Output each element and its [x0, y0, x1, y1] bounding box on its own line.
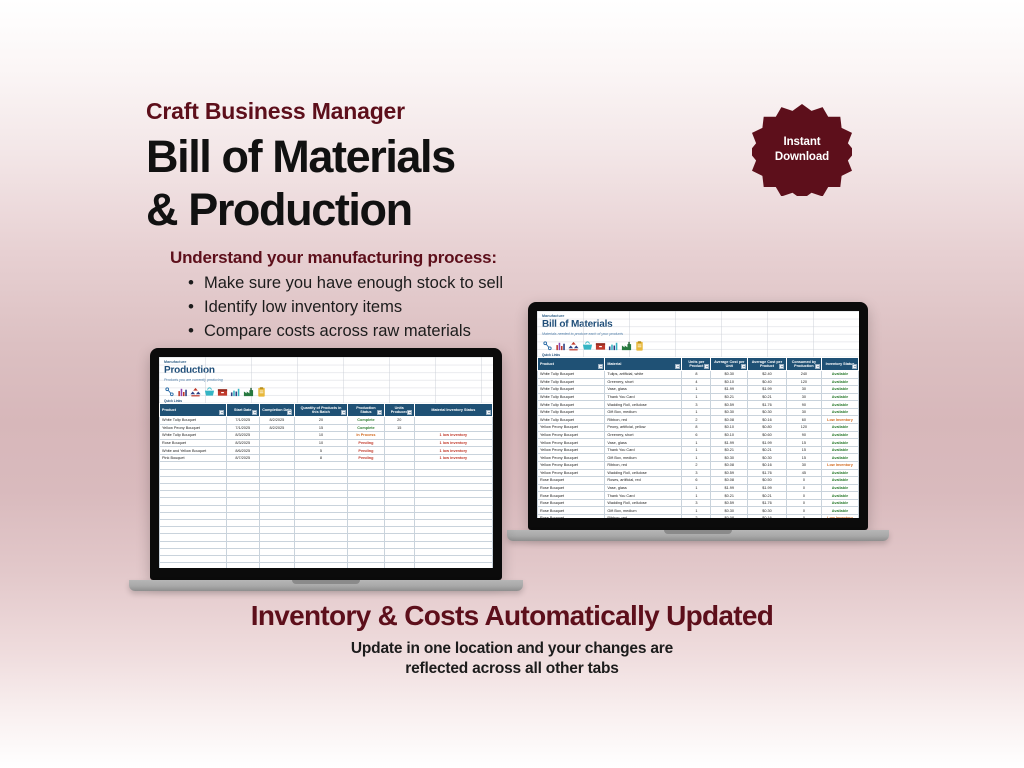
- column-header-avg-cost-unit[interactable]: Average Cost per Unit: [711, 357, 748, 371]
- filter-dropdown-icon[interactable]: [341, 410, 346, 415]
- cell-empty[interactable]: [259, 548, 294, 555]
- cell-quantity-in-batch[interactable]: 5: [294, 447, 347, 455]
- table-row[interactable]: White Tulip BouquetTulips, artificial, w…: [538, 371, 859, 379]
- cell-empty[interactable]: [294, 469, 347, 476]
- cell-consumed-by-production[interactable]: 0: [786, 477, 821, 485]
- cell-consumed-by-production[interactable]: 0: [786, 492, 821, 500]
- cell-empty[interactable]: [160, 498, 227, 505]
- cell-empty[interactable]: [384, 498, 414, 505]
- cell-product[interactable]: Rose Bouquet: [160, 439, 227, 447]
- cell-units-produced[interactable]: [384, 454, 414, 462]
- cell-units-per-product[interactable]: 1: [682, 454, 711, 462]
- cell-product[interactable]: Rose Bouquet: [538, 492, 605, 500]
- cell-inventory-status[interactable]: Available: [822, 446, 859, 454]
- filter-dropdown-icon[interactable]: [675, 364, 680, 369]
- quick-links-row[interactable]: [164, 385, 493, 398]
- cell-inventory-status[interactable]: Available: [822, 401, 859, 409]
- cell-empty[interactable]: [226, 491, 259, 498]
- table-row[interactable]: White Tulip BouquetRibbon, red2$0.08$0.1…: [538, 416, 859, 424]
- table-row[interactable]: Rose Bouquet8/3/202510Pending1 low inven…: [160, 439, 493, 447]
- cell-empty[interactable]: [294, 462, 347, 469]
- cell-inventory-status[interactable]: Available: [822, 424, 859, 432]
- cell-empty[interactable]: [384, 527, 414, 534]
- cell-inventory-status[interactable]: Available: [822, 492, 859, 500]
- cell-inventory-status[interactable]: Available: [822, 393, 859, 401]
- cell-material[interactable]: Peony, artificial, yellow: [605, 424, 682, 432]
- cell-avg-cost-unit[interactable]: $0.10: [711, 424, 748, 432]
- table-row[interactable]: White Tulip BouquetWadding Roll, cellulo…: [538, 401, 859, 409]
- cell-units-produced[interactable]: [384, 447, 414, 455]
- column-header-quantity-in-batch[interactable]: Quantity of Products in this Batch: [294, 403, 347, 417]
- table-row[interactable]: Yellow Peony Bouquet7/1/20258/2/202515Co…: [160, 424, 493, 432]
- cell-empty[interactable]: [259, 563, 294, 568]
- cell-empty[interactable]: [384, 541, 414, 548]
- table-row[interactable]: Rose BouquetRibbon, red2$0.08$0.160Low I…: [538, 514, 859, 518]
- cell-material[interactable]: Roses, artificial, red: [605, 477, 682, 485]
- filter-dropdown-icon[interactable]: [741, 364, 746, 369]
- cell-avg-cost-product[interactable]: $0.16: [748, 461, 787, 469]
- cell-empty[interactable]: [348, 505, 385, 512]
- cell-product[interactable]: Yellow Peony Bouquet: [538, 439, 605, 447]
- cell-consumed-by-production[interactable]: 30: [786, 461, 821, 469]
- cell-empty[interactable]: [348, 476, 385, 483]
- cell-empty[interactable]: [384, 505, 414, 512]
- cell-units-produced[interactable]: [384, 439, 414, 447]
- cell-empty[interactable]: [160, 491, 227, 498]
- cell-empty[interactable]: [294, 512, 347, 519]
- cell-empty[interactable]: [259, 512, 294, 519]
- cell-avg-cost-unit[interactable]: $0.21: [711, 446, 748, 454]
- table-row-empty[interactable]: [160, 534, 493, 541]
- cell-empty[interactable]: [348, 527, 385, 534]
- cell-material-inventory-status[interactable]: 1 low inventory: [414, 432, 492, 440]
- cell-avg-cost-product[interactable]: $0.21: [748, 446, 787, 454]
- cell-empty[interactable]: [348, 555, 385, 562]
- cell-material[interactable]: Ribbon, red: [605, 416, 682, 424]
- cell-consumed-by-production[interactable]: 0: [786, 499, 821, 507]
- table-row-empty[interactable]: [160, 476, 493, 483]
- cell-empty[interactable]: [414, 491, 492, 498]
- cell-consumed-by-production[interactable]: 15: [786, 454, 821, 462]
- cell-units-per-product[interactable]: 3: [682, 469, 711, 477]
- cell-product[interactable]: Rose Bouquet: [538, 507, 605, 515]
- filter-dropdown-icon[interactable]: [287, 410, 292, 415]
- cell-quantity-in-batch[interactable]: 20: [294, 417, 347, 425]
- factory-icon[interactable]: [621, 340, 632, 352]
- table-row-empty[interactable]: [160, 462, 493, 469]
- cell-consumed-by-production[interactable]: 120: [786, 424, 821, 432]
- cell-consumed-by-production[interactable]: 45: [786, 469, 821, 477]
- filter-dropdown-icon[interactable]: [704, 364, 709, 369]
- cell-avg-cost-product[interactable]: $0.21: [748, 393, 787, 401]
- cell-empty[interactable]: [414, 534, 492, 541]
- cell-empty[interactable]: [414, 541, 492, 548]
- cell-avg-cost-unit[interactable]: $0.08: [711, 514, 748, 518]
- cell-empty[interactable]: [384, 462, 414, 469]
- cell-units-per-product[interactable]: 1: [682, 439, 711, 447]
- cell-empty[interactable]: [384, 534, 414, 541]
- cell-empty[interactable]: [414, 555, 492, 562]
- cell-consumed-by-production[interactable]: 90: [786, 431, 821, 439]
- table-row[interactable]: Rose BouquetWadding Roll, cellulose3$0.5…: [538, 499, 859, 507]
- cell-empty[interactable]: [226, 541, 259, 548]
- cell-avg-cost-unit[interactable]: $0.21: [711, 393, 748, 401]
- cell-avg-cost-unit[interactable]: $0.30: [711, 371, 748, 379]
- cell-product[interactable]: Rose Bouquet: [538, 499, 605, 507]
- cell-empty[interactable]: [226, 462, 259, 469]
- table-row[interactable]: Pink Bouquet8/7/20258Pending1 low invent…: [160, 454, 493, 462]
- cell-empty[interactable]: [294, 541, 347, 548]
- cell-empty[interactable]: [294, 563, 347, 568]
- filter-dropdown-icon[interactable]: [852, 364, 857, 369]
- cell-avg-cost-unit[interactable]: $0.21: [711, 492, 748, 500]
- cell-start-date[interactable]: 8/3/2025: [226, 439, 259, 447]
- cell-units-per-product[interactable]: 1: [682, 393, 711, 401]
- cell-inventory-status[interactable]: Available: [822, 507, 859, 515]
- cell-empty[interactable]: [384, 491, 414, 498]
- cell-inventory-status[interactable]: Low Inventory: [822, 461, 859, 469]
- column-header-product[interactable]: Product: [538, 357, 605, 371]
- cell-material-inventory-status[interactable]: [414, 424, 492, 432]
- table-row[interactable]: Yellow Peony BouquetWadding Roll, cellul…: [538, 469, 859, 477]
- table-row[interactable]: Yellow Peony BouquetVase, glass1$1.99$1.…: [538, 439, 859, 447]
- cell-empty[interactable]: [294, 484, 347, 491]
- cell-avg-cost-unit[interactable]: $0.59: [711, 469, 748, 477]
- cell-empty[interactable]: [259, 462, 294, 469]
- table-row[interactable]: White Tulip Bouquet8/3/202510In Process1…: [160, 432, 493, 440]
- trend-chart-icon[interactable]: [608, 340, 619, 352]
- table-row[interactable]: Yellow Peony BouquetGift Box, medium1$0.…: [538, 454, 859, 462]
- cell-empty[interactable]: [294, 476, 347, 483]
- cell-units-per-product[interactable]: 1: [682, 492, 711, 500]
- cell-avg-cost-unit[interactable]: $0.08: [711, 461, 748, 469]
- filter-dropdown-icon[interactable]: [815, 364, 820, 369]
- bar-chart-icon[interactable]: [555, 340, 566, 352]
- cell-inventory-status[interactable]: Available: [822, 431, 859, 439]
- table-row[interactable]: White Tulip BouquetVase, glass1$1.99$1.9…: [538, 386, 859, 394]
- hierarchy-icon[interactable]: [568, 340, 579, 352]
- cell-material-inventory-status[interactable]: 1 low inventory: [414, 454, 492, 462]
- cell-material[interactable]: Thank You Card: [605, 446, 682, 454]
- cell-empty[interactable]: [294, 555, 347, 562]
- inventory-box-icon[interactable]: [595, 340, 606, 352]
- cell-empty[interactable]: [414, 462, 492, 469]
- cell-inventory-status[interactable]: Available: [822, 477, 859, 485]
- cell-consumed-by-production[interactable]: 60: [786, 416, 821, 424]
- table-row[interactable]: White Tulip BouquetGift Box, medium1$0.3…: [538, 408, 859, 416]
- cell-empty[interactable]: [348, 512, 385, 519]
- cell-empty[interactable]: [294, 534, 347, 541]
- table-row[interactable]: Yellow Peony BouquetGreenery, short6$0.1…: [538, 431, 859, 439]
- cell-empty[interactable]: [384, 469, 414, 476]
- cell-empty[interactable]: [160, 519, 227, 526]
- cell-empty[interactable]: [384, 548, 414, 555]
- cell-inventory-status[interactable]: Available: [822, 408, 859, 416]
- filter-dropdown-icon[interactable]: [779, 364, 784, 369]
- cell-units-per-product[interactable]: 8: [682, 424, 711, 432]
- cell-empty[interactable]: [259, 541, 294, 548]
- cell-avg-cost-product[interactable]: $0.21: [748, 492, 787, 500]
- cell-empty[interactable]: [414, 563, 492, 568]
- cell-avg-cost-unit[interactable]: $0.08: [711, 477, 748, 485]
- table-row-empty[interactable]: [160, 512, 493, 519]
- cell-units-per-product[interactable]: 2: [682, 416, 711, 424]
- cell-inventory-status[interactable]: Low Inventory: [822, 514, 859, 518]
- cell-material[interactable]: Wadding Roll, cellulose: [605, 499, 682, 507]
- cell-material[interactable]: Thank You Card: [605, 393, 682, 401]
- cell-units-per-product[interactable]: 1: [682, 507, 711, 515]
- cell-avg-cost-product[interactable]: $1.99: [748, 386, 787, 394]
- table-row[interactable]: White and Yellow Bouquet8/6/20255Pending…: [160, 447, 493, 455]
- cell-empty[interactable]: [294, 519, 347, 526]
- bar-chart-icon[interactable]: [177, 386, 188, 398]
- cell-consumed-by-production[interactable]: 30: [786, 393, 821, 401]
- cell-start-date[interactable]: 7/1/2025: [226, 417, 259, 425]
- column-header-units-per-product[interactable]: Units per Product: [682, 357, 711, 371]
- filter-dropdown-icon[interactable]: [598, 364, 603, 369]
- cell-empty[interactable]: [348, 548, 385, 555]
- cell-units-per-product[interactable]: 6: [682, 477, 711, 485]
- cell-completion-date[interactable]: 8/2/2025: [259, 424, 294, 432]
- cell-quantity-in-batch[interactable]: 10: [294, 432, 347, 440]
- cell-empty[interactable]: [259, 534, 294, 541]
- cell-consumed-by-production[interactable]: 30: [786, 408, 821, 416]
- column-header-units-produced[interactable]: Units Produced: [384, 403, 414, 417]
- cell-product[interactable]: White Tulip Bouquet: [538, 416, 605, 424]
- column-header-completion-date[interactable]: Completion Date: [259, 403, 294, 417]
- cell-avg-cost-product[interactable]: $0.30: [748, 408, 787, 416]
- cell-units-per-product[interactable]: 8: [682, 371, 711, 379]
- table-row-empty[interactable]: [160, 484, 493, 491]
- cell-product[interactable]: Yellow Peony Bouquet: [538, 454, 605, 462]
- cell-empty[interactable]: [226, 476, 259, 483]
- cell-production-status[interactable]: Pending: [348, 439, 385, 447]
- cell-empty[interactable]: [259, 484, 294, 491]
- cell-avg-cost-product[interactable]: $0.40: [748, 378, 787, 386]
- cell-avg-cost-product[interactable]: $1.99: [748, 484, 787, 492]
- cell-product[interactable]: White Tulip Bouquet: [160, 417, 227, 425]
- shopping-basket-icon[interactable]: [204, 386, 215, 398]
- cell-product[interactable]: Pink Bouquet: [160, 454, 227, 462]
- table-row-empty[interactable]: [160, 527, 493, 534]
- column-header-material-inventory-status[interactable]: Material Inventory Status: [414, 403, 492, 417]
- table-row[interactable]: Yellow Peony BouquetPeony, artificial, y…: [538, 424, 859, 432]
- cell-empty[interactable]: [384, 563, 414, 568]
- cell-units-produced[interactable]: 20: [384, 417, 414, 425]
- table-row[interactable]: White Tulip BouquetGreenery, short4$0.10…: [538, 378, 859, 386]
- cell-material[interactable]: Vase, glass: [605, 484, 682, 492]
- cell-units-per-product[interactable]: 3: [682, 401, 711, 409]
- cell-completion-date[interactable]: [259, 432, 294, 440]
- cell-empty[interactable]: [226, 563, 259, 568]
- cell-avg-cost-unit[interactable]: $0.08: [711, 416, 748, 424]
- cell-empty[interactable]: [226, 498, 259, 505]
- cell-empty[interactable]: [160, 462, 227, 469]
- cell-avg-cost-unit[interactable]: $0.59: [711, 401, 748, 409]
- clipboard-icon[interactable]: [634, 340, 645, 352]
- cell-avg-cost-unit[interactable]: $0.30: [711, 454, 748, 462]
- cell-consumed-by-production[interactable]: 90: [786, 401, 821, 409]
- cell-inventory-status[interactable]: Available: [822, 439, 859, 447]
- cell-empty[interactable]: [160, 476, 227, 483]
- cell-avg-cost-unit[interactable]: $0.10: [711, 431, 748, 439]
- cell-inventory-status[interactable]: Available: [822, 484, 859, 492]
- cell-production-status[interactable]: Pending: [348, 454, 385, 462]
- cell-empty[interactable]: [384, 512, 414, 519]
- cell-avg-cost-product[interactable]: $0.16: [748, 416, 787, 424]
- cell-completion-date[interactable]: [259, 447, 294, 455]
- cell-empty[interactable]: [259, 555, 294, 562]
- people-network-icon[interactable]: [542, 340, 553, 352]
- table-row-empty[interactable]: [160, 469, 493, 476]
- cell-material[interactable]: Thank You Card: [605, 492, 682, 500]
- cell-product[interactable]: Yellow Peony Bouquet: [538, 424, 605, 432]
- table-row-empty[interactable]: [160, 491, 493, 498]
- cell-empty[interactable]: [384, 555, 414, 562]
- cell-start-date[interactable]: 8/6/2025: [226, 447, 259, 455]
- table-row[interactable]: Rose BouquetRoses, artificial, red6$0.08…: [538, 477, 859, 485]
- cell-empty[interactable]: [259, 476, 294, 483]
- cell-product[interactable]: White Tulip Bouquet: [538, 371, 605, 379]
- cell-material[interactable]: Gift Box, medium: [605, 454, 682, 462]
- column-header-product[interactable]: Product: [160, 403, 227, 417]
- cell-empty[interactable]: [259, 498, 294, 505]
- cell-empty[interactable]: [226, 484, 259, 491]
- inventory-box-icon[interactable]: [217, 386, 228, 398]
- table-row[interactable]: Rose BouquetVase, glass1$1.99$1.990Avail…: [538, 484, 859, 492]
- cell-empty[interactable]: [160, 469, 227, 476]
- column-header-material[interactable]: Material: [605, 357, 682, 371]
- cell-start-date[interactable]: 7/1/2025: [226, 424, 259, 432]
- cell-material-inventory-status[interactable]: 1 low inventory: [414, 439, 492, 447]
- cell-empty[interactable]: [259, 527, 294, 534]
- cell-empty[interactable]: [160, 555, 227, 562]
- cell-empty[interactable]: [226, 527, 259, 534]
- cell-production-status[interactable]: Pending: [348, 447, 385, 455]
- cell-empty[interactable]: [160, 534, 227, 541]
- trend-chart-icon[interactable]: [230, 386, 241, 398]
- cell-empty[interactable]: [414, 484, 492, 491]
- cell-product[interactable]: White Tulip Bouquet: [538, 386, 605, 394]
- cell-units-per-product[interactable]: 1: [682, 446, 711, 454]
- people-network-icon[interactable]: [164, 386, 175, 398]
- cell-empty[interactable]: [414, 476, 492, 483]
- cell-avg-cost-product[interactable]: $0.16: [748, 514, 787, 518]
- column-header-start-date[interactable]: Start Date: [226, 403, 259, 417]
- table-row[interactable]: Rose BouquetGift Box, medium1$0.30$0.300…: [538, 507, 859, 515]
- cell-consumed-by-production[interactable]: 30: [786, 386, 821, 394]
- cell-empty[interactable]: [348, 484, 385, 491]
- cell-production-status[interactable]: Complete: [348, 417, 385, 425]
- cell-avg-cost-product[interactable]: $0.30: [748, 454, 787, 462]
- cell-product[interactable]: Rose Bouquet: [538, 477, 605, 485]
- cell-empty[interactable]: [160, 505, 227, 512]
- cell-empty[interactable]: [294, 527, 347, 534]
- table-row-empty[interactable]: [160, 555, 493, 562]
- cell-units-produced[interactable]: 15: [384, 424, 414, 432]
- cell-units-per-product[interactable]: 1: [682, 484, 711, 492]
- cell-inventory-status[interactable]: Available: [822, 371, 859, 379]
- cell-product[interactable]: Rose Bouquet: [538, 514, 605, 518]
- cell-empty[interactable]: [259, 469, 294, 476]
- cell-avg-cost-product[interactable]: $2.40: [748, 371, 787, 379]
- cell-empty[interactable]: [160, 548, 227, 555]
- cell-material[interactable]: Vase, glass: [605, 386, 682, 394]
- cell-material-inventory-status[interactable]: [414, 417, 492, 425]
- cell-product[interactable]: Yellow Peony Bouquet: [160, 424, 227, 432]
- cell-avg-cost-product[interactable]: $1.76: [748, 499, 787, 507]
- cell-production-status[interactable]: Complete: [348, 424, 385, 432]
- cell-empty[interactable]: [384, 519, 414, 526]
- column-header-consumed-by-production[interactable]: Consumed by Production: [786, 357, 821, 371]
- cell-quantity-in-batch[interactable]: 10: [294, 439, 347, 447]
- cell-consumed-by-production[interactable]: 240: [786, 371, 821, 379]
- cell-units-per-product[interactable]: 6: [682, 431, 711, 439]
- cell-inventory-status[interactable]: Available: [822, 469, 859, 477]
- cell-empty[interactable]: [259, 505, 294, 512]
- cell-inventory-status[interactable]: Available: [822, 499, 859, 507]
- column-header-avg-cost-product[interactable]: Average Cost per Product: [748, 357, 787, 371]
- cell-empty[interactable]: [259, 491, 294, 498]
- cell-empty[interactable]: [226, 548, 259, 555]
- cell-empty[interactable]: [414, 527, 492, 534]
- cell-empty[interactable]: [226, 519, 259, 526]
- cell-avg-cost-unit[interactable]: $0.10: [711, 378, 748, 386]
- cell-completion-date[interactable]: 8/2/2025: [259, 417, 294, 425]
- cell-empty[interactable]: [414, 469, 492, 476]
- cell-empty[interactable]: [348, 462, 385, 469]
- cell-units-per-product[interactable]: 3: [682, 499, 711, 507]
- cell-empty[interactable]: [160, 563, 227, 568]
- table-row[interactable]: Rose BouquetThank You Card1$0.21$0.210Av…: [538, 492, 859, 500]
- table-row[interactable]: Yellow Peony BouquetRibbon, red2$0.08$0.…: [538, 461, 859, 469]
- cell-material[interactable]: Wadding Roll, cellulose: [605, 469, 682, 477]
- cell-empty[interactable]: [160, 527, 227, 534]
- clipboard-icon[interactable]: [256, 386, 267, 398]
- cell-avg-cost-product[interactable]: $1.76: [748, 469, 787, 477]
- cell-units-per-product[interactable]: 2: [682, 461, 711, 469]
- cell-quantity-in-batch[interactable]: 15: [294, 424, 347, 432]
- cell-material[interactable]: Ribbon, red: [605, 514, 682, 518]
- cell-empty[interactable]: [414, 498, 492, 505]
- cell-consumed-by-production[interactable]: 15: [786, 446, 821, 454]
- cell-empty[interactable]: [348, 498, 385, 505]
- cell-product[interactable]: White Tulip Bouquet: [538, 393, 605, 401]
- cell-avg-cost-product[interactable]: $0.30: [748, 507, 787, 515]
- cell-empty[interactable]: [226, 555, 259, 562]
- table-row-empty[interactable]: [160, 498, 493, 505]
- cell-units-per-product[interactable]: 1: [682, 386, 711, 394]
- cell-inventory-status[interactable]: Low Inventory: [822, 416, 859, 424]
- cell-material[interactable]: Greenery, short: [605, 431, 682, 439]
- cell-consumed-by-production[interactable]: 0: [786, 514, 821, 518]
- filter-dropdown-icon[interactable]: [219, 410, 224, 415]
- cell-inventory-status[interactable]: Available: [822, 454, 859, 462]
- cell-empty[interactable]: [226, 512, 259, 519]
- cell-production-status[interactable]: In Process: [348, 432, 385, 440]
- cell-empty[interactable]: [294, 548, 347, 555]
- cell-product[interactable]: White Tulip Bouquet: [538, 378, 605, 386]
- cell-product[interactable]: White Tulip Bouquet: [538, 401, 605, 409]
- cell-empty[interactable]: [384, 476, 414, 483]
- cell-material-inventory-status[interactable]: 1 low inventory: [414, 447, 492, 455]
- cell-empty[interactable]: [226, 534, 259, 541]
- cell-material[interactable]: Tulips, artificial, white: [605, 371, 682, 379]
- filter-dropdown-icon[interactable]: [252, 410, 257, 415]
- cell-empty[interactable]: [160, 541, 227, 548]
- cell-material[interactable]: Greenery, short: [605, 378, 682, 386]
- cell-avg-cost-unit[interactable]: $0.30: [711, 507, 748, 515]
